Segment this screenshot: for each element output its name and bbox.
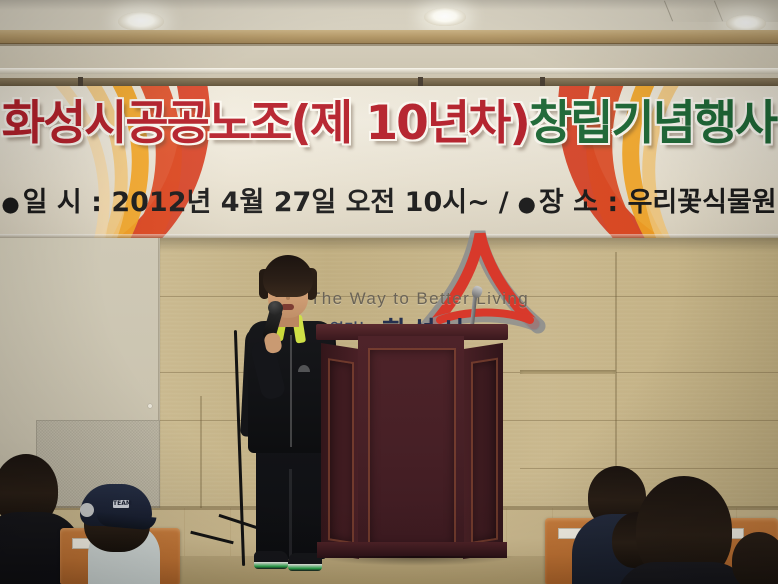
banner-when-value: 2012년 4월 27일 오전 10시~ (111, 187, 489, 218)
speaker-leg-seam (289, 469, 292, 557)
banner-separator: / (490, 187, 518, 218)
banner-rail (0, 68, 778, 74)
banner-subline: ●일 시 : 2012년 4월 27일 오전 10시~/●장 소 : 우리꽃식물… (0, 180, 778, 219)
banner-headline-green: 창립기념행사 (529, 96, 776, 151)
bullet-icon: ● (518, 192, 539, 216)
podium-front-face (358, 336, 464, 558)
speaker-hair (263, 255, 313, 297)
banner-when-label: 일 시 : (23, 187, 102, 218)
banner-clip (78, 77, 83, 86)
banner-headline: 화성시공공노조(제 10년차)창립기념행사 (0, 100, 778, 147)
podium-floor-shadow (316, 556, 516, 566)
photo-scene: 화성시공공노조(제 10년차)창립기념행사 ●일 시 : 2012년 4월 27… (0, 0, 778, 584)
podium-right-face (463, 343, 503, 559)
wall-seam-vertical (200, 396, 202, 508)
speaker-jacket-zipper (290, 335, 292, 447)
banner-headline-red: 화성시공공노조(제 10년차) (2, 96, 529, 151)
downlight-icon (424, 8, 466, 26)
speaker-jacket-logo (298, 365, 310, 372)
bullet-icon: ● (1, 192, 22, 216)
ceiling-beam (0, 30, 778, 44)
wall-recess (520, 370, 616, 374)
banner-where-label: 장 소 : (539, 187, 618, 218)
podium (321, 336, 503, 562)
banner-clip (540, 77, 545, 86)
podium-left-face (321, 343, 359, 559)
downlight-icon (118, 12, 164, 31)
wall-seam (520, 468, 778, 469)
podium-panel-inset (368, 348, 456, 548)
banner-clip (418, 77, 423, 86)
audience-head (732, 532, 778, 584)
event-banner: 화성시공공노조(제 10년차)창립기념행사 ●일 시 : 2012년 4월 27… (0, 86, 778, 238)
cap-side-patch (80, 503, 94, 517)
speaker-shoe-left (254, 551, 288, 569)
podium-panel-inset (471, 358, 498, 544)
banner-rail-dark (0, 78, 778, 86)
panel-screw-icon (148, 404, 152, 408)
cap-logo-icon: TEAM (113, 500, 129, 508)
wall-seam-vertical (615, 252, 617, 468)
banner-where-value: 우리꽃식물원 (628, 187, 777, 218)
podium-panel-inset (328, 358, 354, 544)
